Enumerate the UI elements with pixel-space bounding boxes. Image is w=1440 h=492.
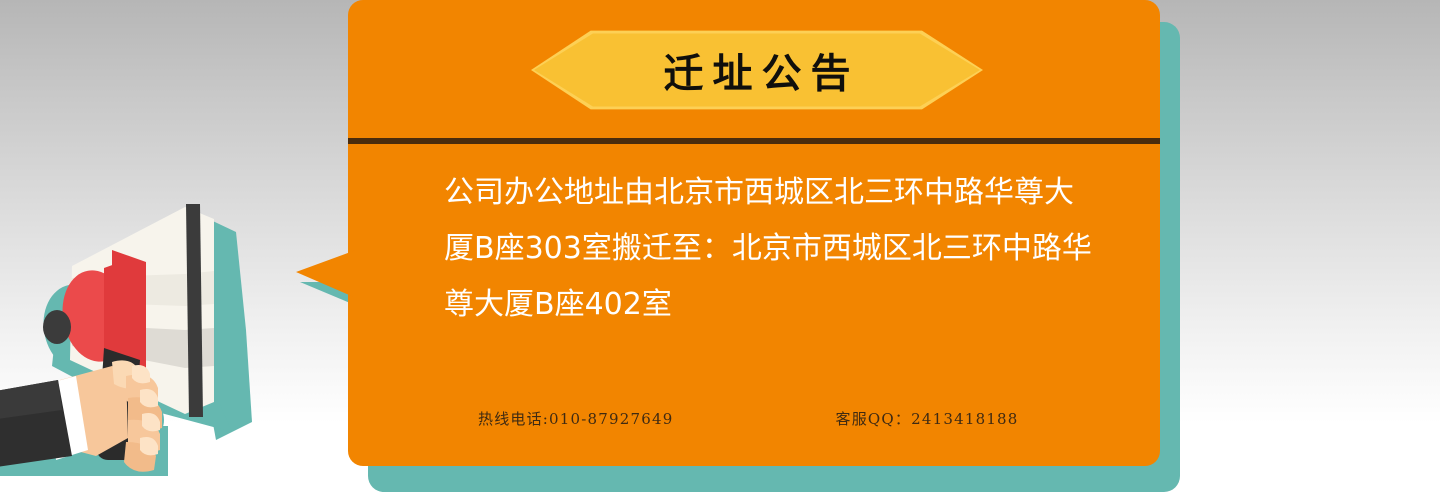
hand-holding-megaphone-icon [0,170,310,492]
announcement-body-text: 公司办公地址由北京市西城区北三环中路华尊大厦B座303室搬迁至：北京市西城区北三… [444,165,1094,333]
speech-bubble-tail [296,250,356,298]
title-banner: 迁址公告 [534,32,980,108]
qq-text: 客服QQ：2413418188 [836,408,1019,429]
announcement-banner-image: 迁址公告 公司办公地址由北京市西城区北三环中路华尊大厦B座303室搬迁至：北京市… [0,0,1440,492]
megaphone-back-nub [43,310,71,344]
megaphone-rim [186,204,203,417]
title-divider [348,138,1160,144]
page-title: 迁址公告 [534,32,980,108]
contact-footer: 热线电话:010-87927649 客服QQ：2413418188 [444,408,1104,429]
hotline-text: 热线电话:010-87927649 [478,408,674,429]
